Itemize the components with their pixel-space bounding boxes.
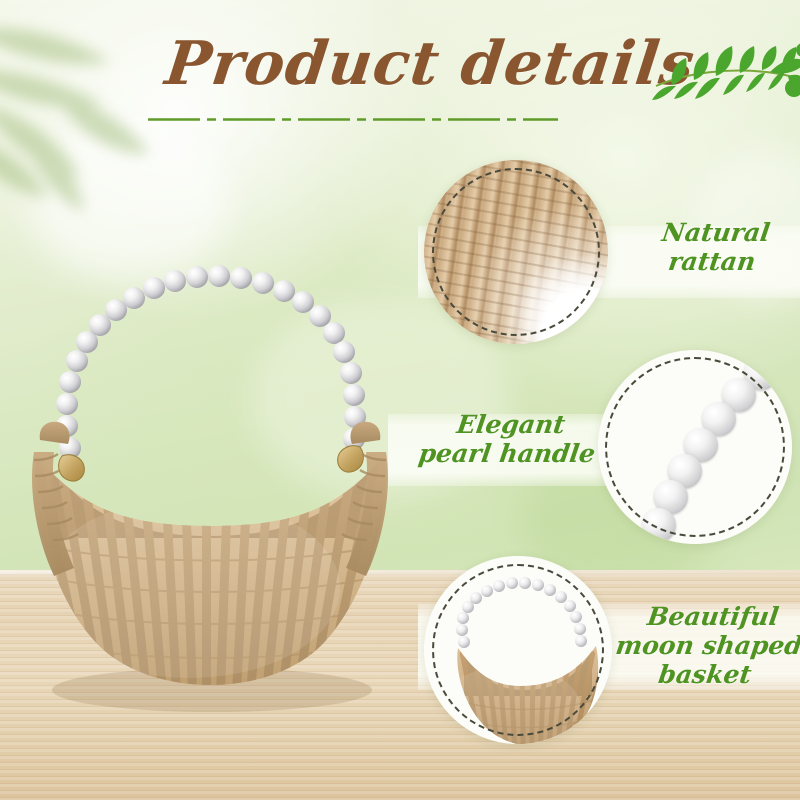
leafy-vine-icon (648, 28, 800, 120)
feature-caption-moon-basket: Beautiful moon shaped basket (608, 602, 800, 689)
caption-line-2: rattan (622, 247, 800, 276)
moon-basket-closeup-icon (424, 556, 612, 744)
feature-caption-pearl-handle: Elegant pearl handle (400, 410, 618, 468)
product-details-infographic: Product details (0, 0, 800, 800)
feature-circle-pearl (598, 350, 792, 544)
pearl-bead-handle-icon (56, 265, 366, 481)
feature-caption-natural-rattan: Natural rattan (622, 218, 800, 276)
rattan-closeup-icon (424, 160, 608, 344)
caption-line-2: pearl handle (400, 439, 614, 468)
caption-line-1: Elegant (404, 410, 618, 439)
caption-line-1: Beautiful (616, 602, 800, 631)
title-divider (148, 117, 558, 121)
gold-clasp-icon (59, 446, 364, 481)
page-title: Product details (162, 34, 698, 94)
feature-circle-rattan (424, 160, 608, 344)
feature-circle-moon-basket (424, 556, 612, 744)
caption-line-1: Natural (626, 218, 800, 247)
main-product-image (10, 238, 410, 738)
caption-line-3: basket (608, 660, 800, 689)
pearl-strand-closeup-icon (598, 350, 792, 544)
caption-line-2: moon shaped (612, 631, 800, 660)
mini-pearl-handle-icon (456, 577, 587, 648)
